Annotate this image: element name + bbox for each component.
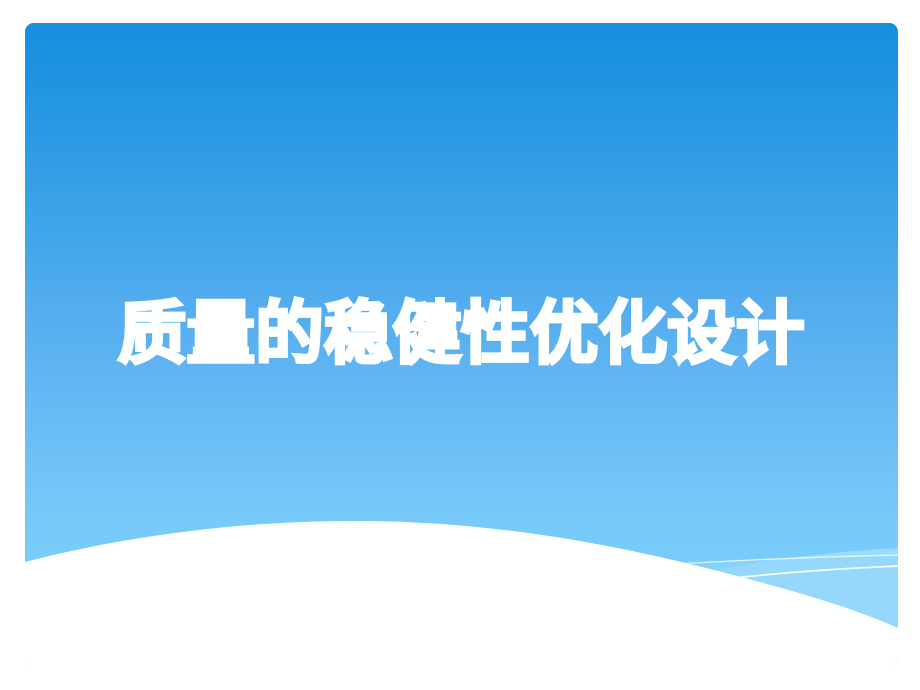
slide-root: 质量的稳健性优化设计 bbox=[0, 0, 920, 690]
slide-canvas: 质量的稳健性优化设计 bbox=[25, 23, 898, 665]
bottom-wave-decoration bbox=[25, 23, 898, 665]
wave-white-main bbox=[25, 521, 898, 665]
